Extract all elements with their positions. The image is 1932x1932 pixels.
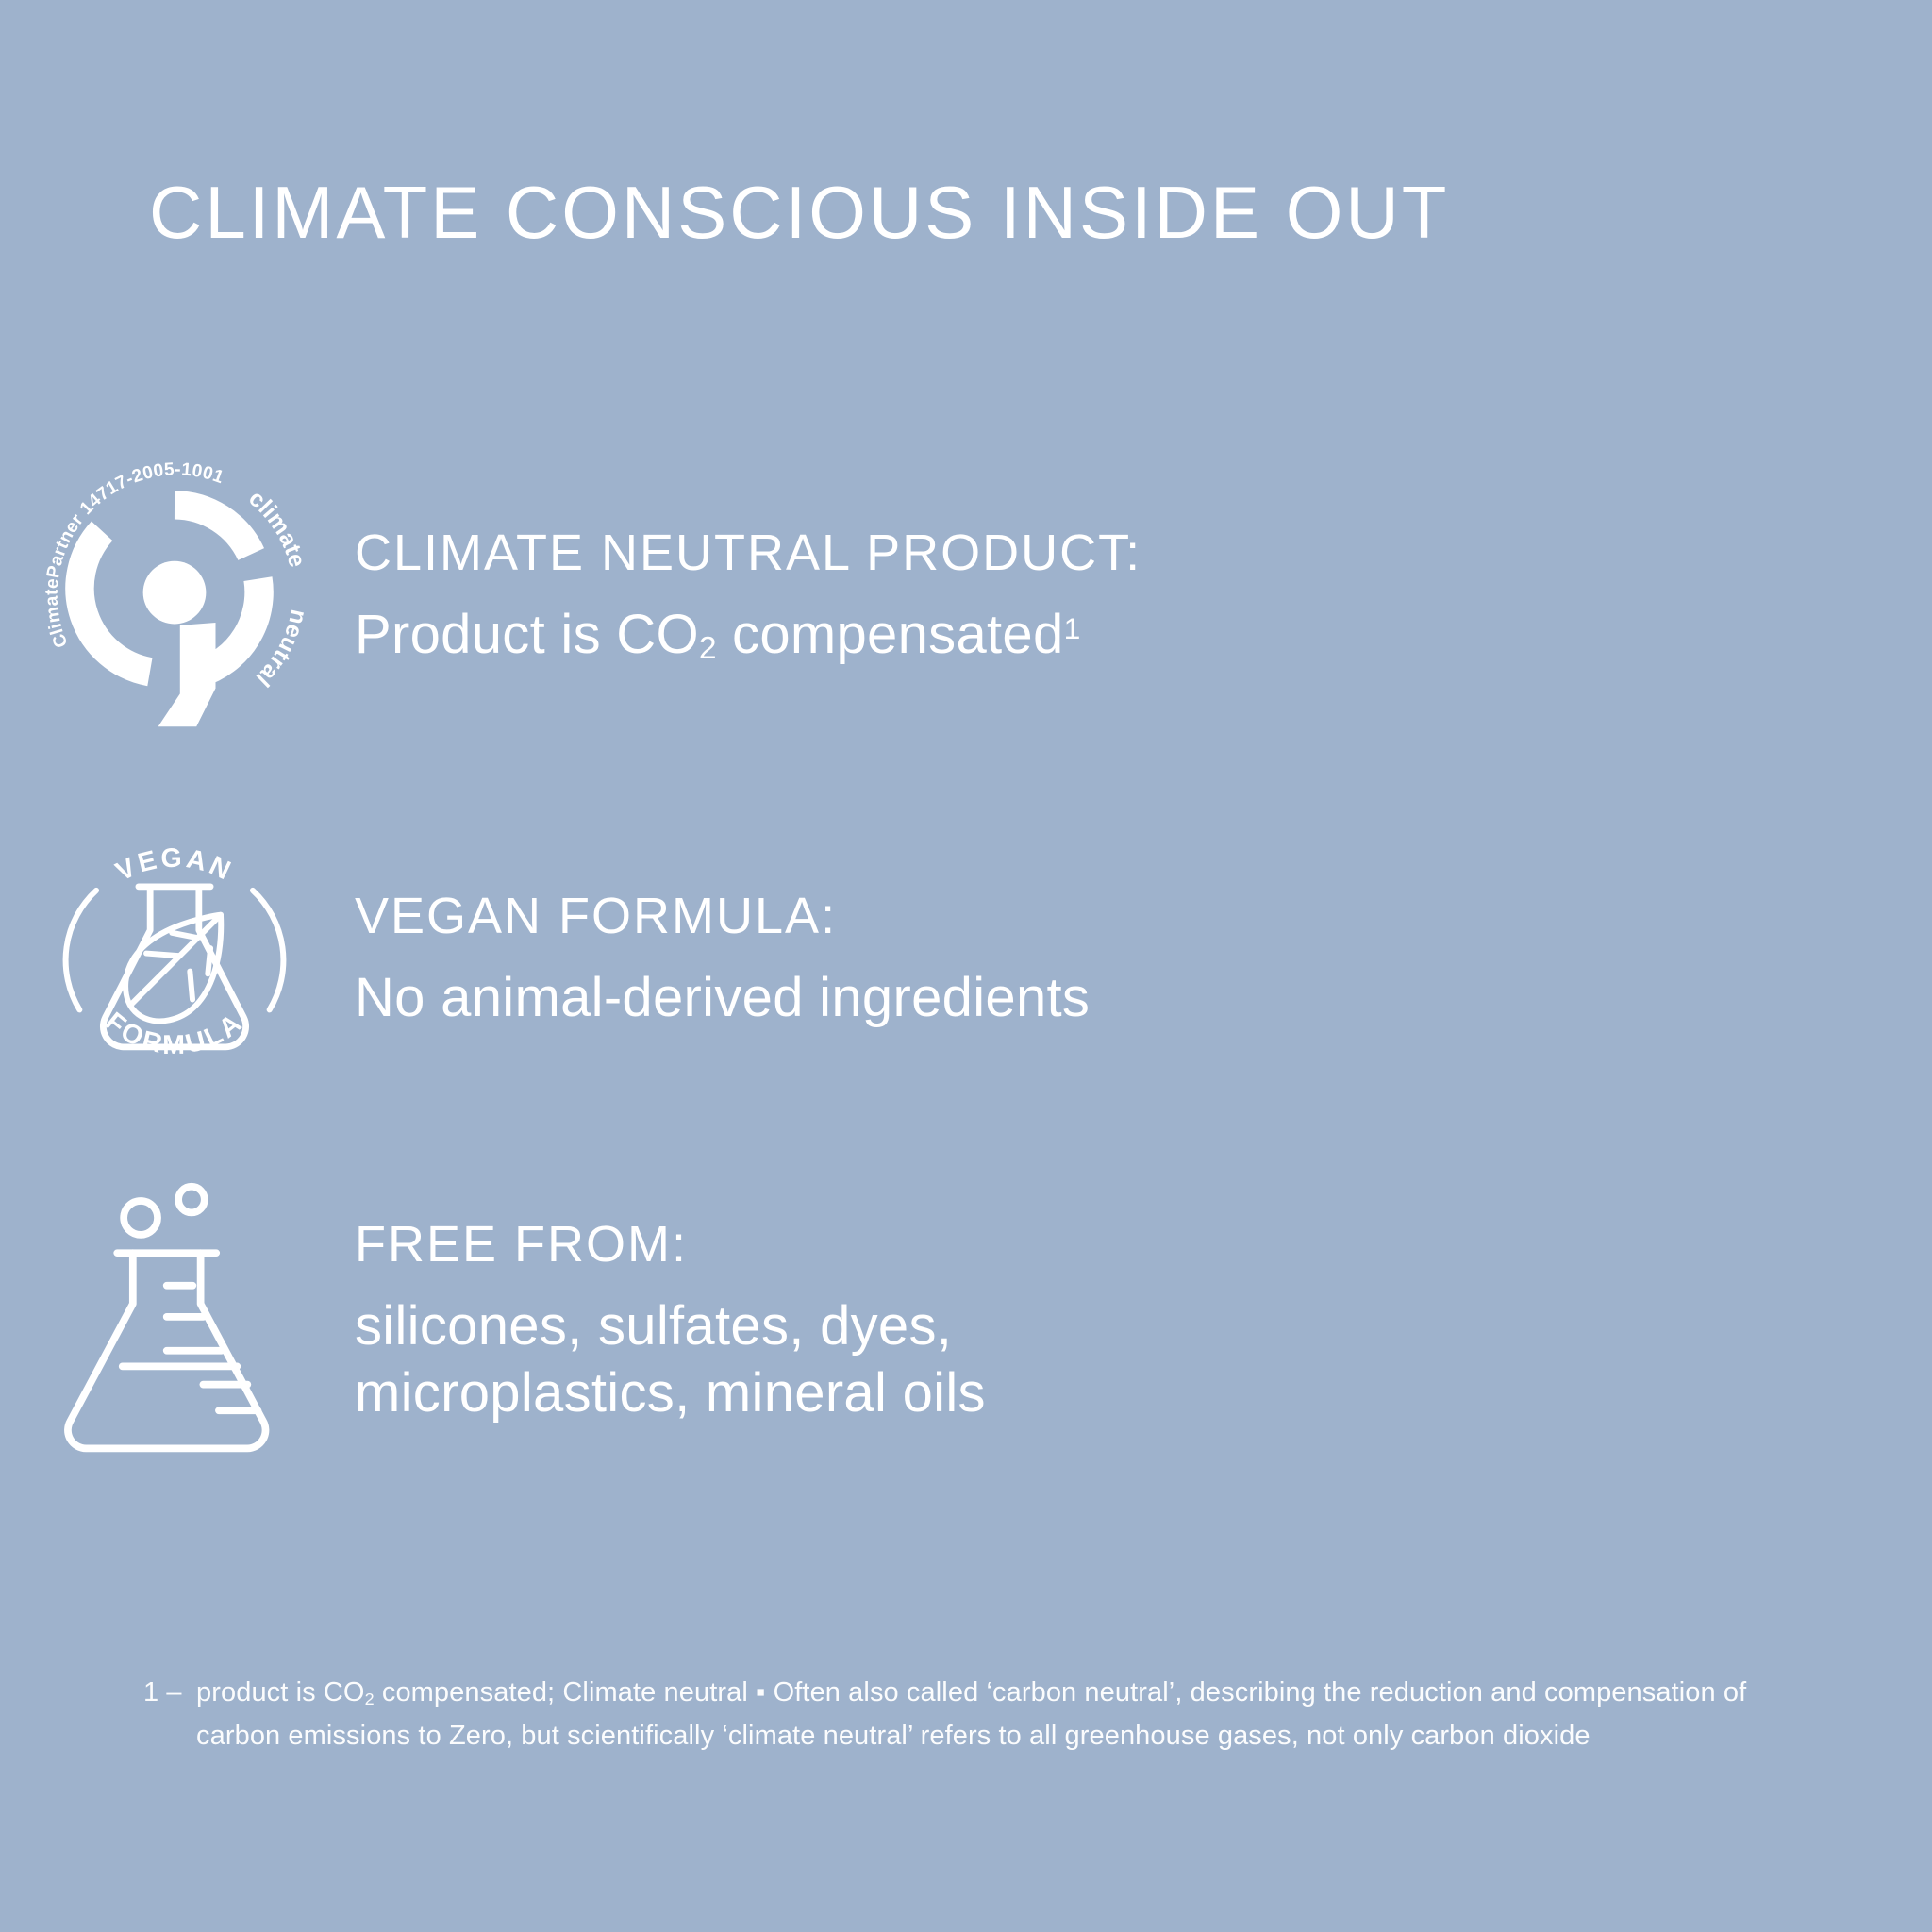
body-text-prefix: Product is CO — [355, 604, 699, 665]
page-title: CLIMATE CONSCIOUS INSIDE OUT — [149, 175, 1449, 249]
feature-body-vegan-formula: No animal-derived ingredients — [355, 965, 1932, 1032]
footnote-body: product is CO2 compensated; Climate neut… — [143, 1672, 1813, 1758]
climatepartner-climate-neutral-seal-icon: ClimatePartner 14717-2005-1001 climate n… — [0, 458, 349, 732]
feature-body-climate-neutral: Product is CO2 compensated1 — [355, 602, 1932, 669]
svg-text:VEGAN: VEGAN — [111, 843, 238, 888]
svg-text:ClimatePartner 14717-2005-1001: ClimatePartner 14717-2005-1001 — [42, 459, 226, 650]
feature-row-free-from: FREE FROM: silicones, sulfates, dyes, mi… — [0, 1184, 1932, 1457]
footnote-line1-a: product is CO — [196, 1677, 365, 1707]
feature-heading-vegan-formula: VEGAN FORMULA: — [355, 886, 1932, 948]
feature-row-vegan-formula: VEGAN FORMULA — [0, 830, 1932, 1087]
free-from-line-1: silicones, sulfates, dyes, — [355, 1293, 1298, 1360]
svg-text:FORMULA: FORMULA — [100, 1007, 250, 1060]
feature-text-vegan-formula: VEGAN FORMULA: No animal-derived ingredi… — [349, 886, 1932, 1032]
footnote-line1-b: compensated; Climate neutral ▪ Often als… — [375, 1677, 1362, 1707]
feature-body-free-from: silicones, sulfates, dyes, microplastics… — [355, 1293, 1298, 1427]
feature-text-climate-neutral: CLIMATE NEUTRAL PRODUCT: Product is CO2 … — [349, 523, 1932, 669]
co2-subscript: 2 — [699, 631, 717, 666]
footnote-marker: 1 – — [143, 1672, 196, 1715]
footnote: 1 – product is CO2 compensated; Climate … — [143, 1672, 1813, 1758]
feature-text-free-from: FREE FROM: silicones, sulfates, dyes, mi… — [349, 1214, 1932, 1426]
erlenmeyer-flask-bubbles-icon — [0, 1184, 349, 1457]
footnote-line3: to all greenhouse gases, not only carbon… — [999, 1721, 1591, 1751]
body-text-suffix: compensated — [717, 604, 1064, 665]
feature-heading-climate-neutral: CLIMATE NEUTRAL PRODUCT: — [355, 523, 1932, 585]
infographic-page: CLIMATE CONSCIOUS INSIDE OUT ClimatePart… — [0, 0, 1932, 1932]
vegan-formula-flask-leaf-icon: VEGAN FORMULA — [0, 830, 349, 1087]
feature-heading-free-from: FREE FROM: — [355, 1214, 1932, 1276]
footnote-marker-superscript: 1 — [1064, 611, 1081, 645]
footnote-co2-subscript: 2 — [365, 1690, 375, 1708]
feature-row-climate-neutral: ClimatePartner 14717-2005-1001 climate n… — [0, 458, 1932, 732]
free-from-line-2: microplastics, mineral oils — [355, 1360, 1298, 1427]
svg-text:climate: climate — [243, 486, 309, 571]
